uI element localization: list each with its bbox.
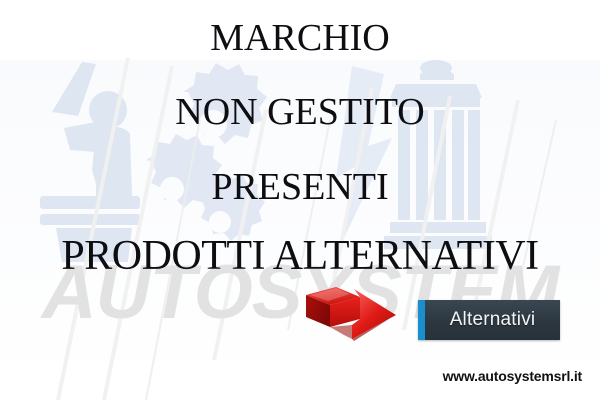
alternativi-button[interactable]: Alternativi: [418, 300, 560, 340]
website-url: www.autosystemsrl.it: [443, 368, 582, 384]
notice-banner: AUTOSYSTEM MARCHIO NON GESTITO PRESENTI …: [0, 0, 600, 400]
red-arrow-icon: [300, 283, 400, 343]
alternativi-button-label: Alternativi: [450, 309, 536, 331]
diagonal-streaks: [58, 58, 518, 400]
worker-figure-silhouette: [40, 62, 140, 262]
classical-temple-silhouette: [384, 60, 492, 249]
notice-line-2: NON GESTITO: [0, 90, 600, 134]
gear-cog-silhouette: [146, 63, 267, 241]
notice-line-1: MARCHIO: [0, 16, 600, 60]
notice-line-3: PRESENTI: [0, 165, 600, 209]
lightning-bolt-silhouette: [336, 66, 392, 238]
notice-line-4: PRODOTTI ALTERNATIVI: [0, 232, 600, 280]
